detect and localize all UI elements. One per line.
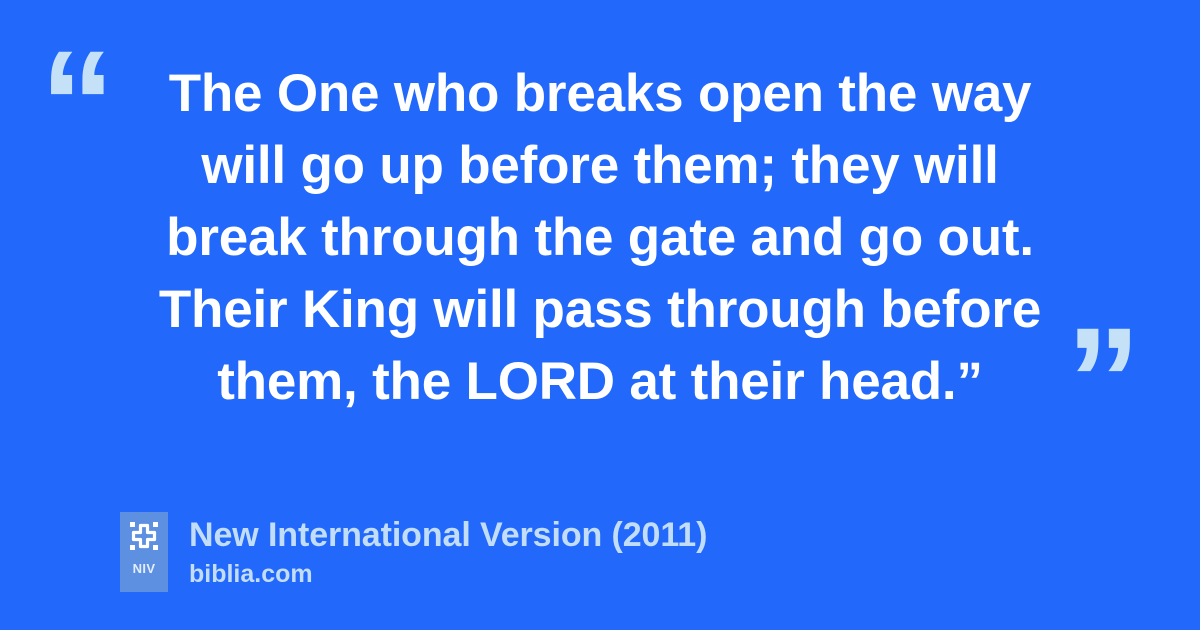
quote-text: The One who breaks open the way will go … bbox=[128, 58, 1072, 418]
bible-version-name: New International Version (2011) bbox=[189, 514, 707, 556]
quote-line: them, the LORD at their head.” bbox=[128, 346, 1072, 418]
bible-verse-card: “ The One who breaks open the way will g… bbox=[0, 0, 1200, 630]
closing-quote-icon: ” bbox=[1066, 305, 1144, 455]
quote-line: Their King will pass through before bbox=[128, 274, 1072, 346]
quote-line: will go up before them; they will bbox=[128, 130, 1072, 202]
attribution-text: New International Version (2011) biblia.… bbox=[189, 512, 707, 590]
site-name[interactable]: biblia.com bbox=[189, 558, 707, 590]
bible-version-tile: NIV bbox=[120, 512, 168, 592]
quote-line: The One who breaks open the way bbox=[128, 58, 1072, 130]
quote-line: break through the gate and go out. bbox=[128, 202, 1072, 274]
bible-version-abbreviation: NIV bbox=[133, 561, 156, 576]
attribution: NIV New International Version (2011) bib… bbox=[120, 512, 707, 592]
bible-cross-crop-icon bbox=[130, 522, 158, 550]
opening-quote-icon: “ bbox=[40, 28, 118, 178]
